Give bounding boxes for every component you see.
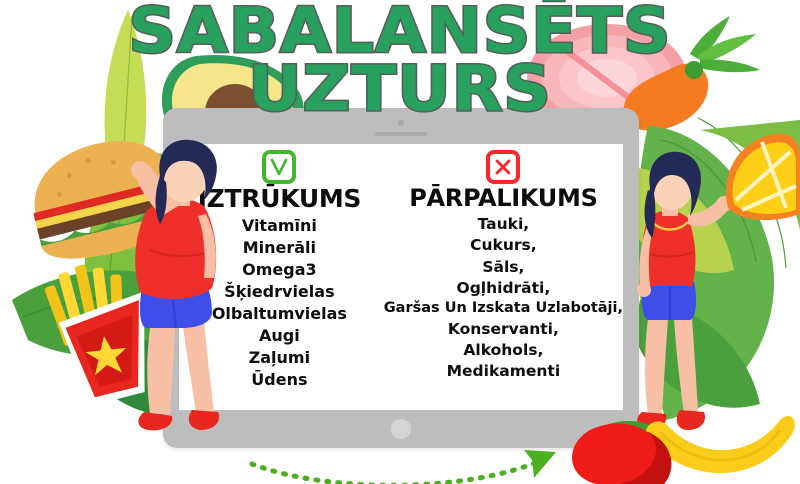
- curved-dashed-arrow: [252, 460, 542, 484]
- infographic-poster: SABALANSĒTS UZTURS IZTRŪKUMS Vitamīni Mi…: [0, 0, 800, 484]
- bottom-props: [0, 0, 800, 484]
- arrow-head-icon: [524, 450, 556, 478]
